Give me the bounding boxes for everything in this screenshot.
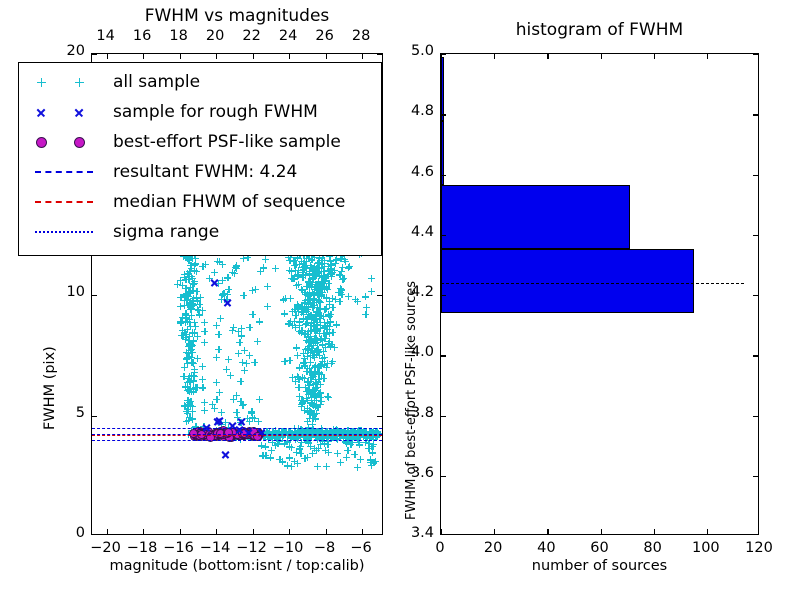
scatter-point-all-sample: [303, 303, 310, 310]
scatter-point-all-sample: [298, 309, 305, 316]
scatter-point-all-sample: [188, 273, 195, 280]
scatter-point-all-sample: [310, 314, 317, 321]
scatter-point-all-sample: [206, 275, 213, 282]
scatter-point-all-sample: [303, 308, 310, 315]
scatter-point-all-sample: [185, 276, 192, 283]
scatter-point-all-sample: [352, 296, 359, 303]
scatter-point-all-sample: [320, 313, 327, 320]
scatter-point-all-sample: [362, 293, 369, 300]
scatter-point-all-sample: [186, 319, 193, 326]
scatter-point-all-sample: [181, 402, 188, 409]
scatter-point-rough-fwhm: [210, 278, 219, 287]
scatter-point-all-sample: [309, 426, 316, 433]
bottom-tick-mark: [253, 529, 254, 534]
scatter-point-all-sample: [282, 295, 289, 302]
scatter-point-all-sample: [185, 387, 192, 394]
scatter-point-all-sample: [365, 440, 372, 447]
histogram-x-tick-label: 120: [741, 540, 777, 556]
scatter-point-all-sample: [211, 405, 218, 412]
figure-canvas: FWHM vs magnitudes 1416182022242628 −20−…: [0, 0, 800, 600]
scatter-point-all-sample: [314, 384, 321, 391]
top-tick-mark: [180, 54, 181, 59]
scatter-point-all-sample: [255, 418, 262, 425]
scatter-point-all-sample: [216, 389, 223, 396]
histogram-x-tick-mark: [601, 54, 602, 59]
scatter-point-all-sample: [313, 265, 320, 272]
scatter-point-all-sample: [201, 319, 208, 326]
scatter-point-all-sample: [309, 352, 316, 359]
scatter-point-all-sample: [368, 288, 375, 295]
top-tick-mark: [326, 54, 327, 59]
legend-entry[interactable]: best-effort PSF-like sample: [25, 127, 381, 157]
scatter-point-all-sample: [209, 401, 216, 408]
scatter-point-all-sample: [182, 334, 189, 341]
scatter-point-all-sample: [301, 407, 308, 414]
scatter-point-all-sample: [310, 295, 317, 302]
scatter-point-all-sample: [305, 386, 312, 393]
reference-line-sigma-range-lower: [92, 440, 382, 441]
scatter-point-all-sample: [300, 260, 307, 267]
scatter-point-all-sample: [309, 410, 316, 417]
scatter-point-all-sample: [333, 321, 340, 328]
scatter-point-all-sample: [187, 379, 194, 386]
histogram-y-tick-mark: [441, 235, 446, 236]
dashed-blue-line-icon: [35, 171, 93, 173]
scatter-point-all-sample: [311, 394, 318, 401]
bottom-tick-mark: [289, 529, 290, 534]
scatter-point-all-sample: [268, 447, 275, 454]
scatter-point-all-sample: [308, 369, 315, 376]
scatter-point-all-sample: [189, 408, 196, 415]
scatter-point-all-sample: [201, 328, 208, 335]
scatter-point-all-sample: [308, 337, 315, 344]
scatter-point-all-sample: [217, 315, 224, 322]
scatter-point-all-sample: [312, 384, 319, 391]
scatter-point-all-sample: [307, 296, 314, 303]
scatter-point-all-sample: [202, 261, 209, 268]
scatter-point-all-sample: [306, 280, 313, 287]
scatter-point-all-sample: [311, 445, 318, 452]
scatter-point-all-sample: [317, 441, 324, 448]
scatter-point-all-sample: [264, 283, 271, 290]
scatter-point-all-sample: [307, 359, 314, 366]
scatter-point-all-sample: [329, 295, 336, 302]
scatter-point-all-sample: [313, 267, 320, 274]
dashdot-blue-line-icon: [35, 231, 93, 233]
scatter-point-all-sample: [296, 318, 303, 325]
scatter-point-all-sample: [308, 340, 315, 347]
scatter-point-all-sample: [180, 373, 187, 380]
scatter-point-all-sample: [317, 389, 324, 396]
scatter-point-all-sample: [252, 286, 259, 293]
scatter-point-all-sample: [186, 316, 193, 323]
scatter-point-all-sample: [312, 311, 319, 318]
scatter-point-all-sample: [179, 282, 186, 289]
scatter-point-all-sample: [234, 414, 241, 421]
scatter-point-all-sample: [307, 339, 314, 346]
scatter-point-all-sample: [187, 284, 194, 291]
scatter-point-all-sample: [184, 354, 191, 361]
scatter-point-all-sample: [312, 380, 319, 387]
scatter-point-all-sample: [187, 262, 194, 269]
legend-entry[interactable]: all sample: [25, 67, 381, 97]
scatter-point-all-sample: [299, 308, 306, 315]
scatter-point-all-sample: [274, 440, 281, 447]
scatter-point-all-sample: [181, 271, 188, 278]
scatter-point-all-sample: [188, 302, 195, 309]
scatter-point-all-sample: [186, 333, 193, 340]
scatter-point-all-sample: [319, 289, 326, 296]
scatter-point-all-sample: [214, 258, 221, 265]
scatter-point-all-sample: [193, 288, 200, 295]
scatter-point-all-sample: [189, 275, 196, 282]
legend-entry[interactable]: sigma range: [25, 217, 381, 247]
scatter-point-all-sample: [185, 293, 192, 300]
scatter-point-all-sample: [332, 260, 339, 267]
scatter-point-all-sample: [310, 266, 317, 273]
scatter-point-all-sample: [187, 268, 194, 275]
scatter-point-all-sample: [304, 306, 311, 313]
scatter-point-all-sample: [324, 319, 331, 326]
scatter-point-all-sample: [307, 409, 314, 416]
scatter-point-all-sample: [314, 348, 321, 355]
scatter-point-all-sample: [272, 265, 279, 272]
scatter-point-all-sample: [201, 407, 208, 414]
scatter-point-all-sample: [302, 272, 309, 279]
scatter-point-all-sample: [314, 404, 321, 411]
scatter-point-all-sample: [299, 274, 306, 281]
scatter-point-all-sample: [192, 323, 199, 330]
scatter-point-all-sample: [308, 337, 315, 344]
scatter-point-all-sample: [311, 316, 318, 323]
scatter-point-all-sample: [309, 421, 316, 428]
scatter-point-all-sample: [319, 437, 326, 444]
bottom-tick-label: −12: [235, 540, 269, 556]
scatter-point-all-sample: [308, 394, 315, 401]
scatter-point-all-sample: [317, 325, 324, 332]
scatter-point-all-sample: [329, 304, 336, 311]
scatter-point-all-sample: [313, 308, 320, 315]
scatter-point-all-sample: [327, 265, 334, 272]
scatter-point-all-sample: [305, 296, 312, 303]
scatter-point-all-sample: [357, 456, 364, 463]
scatter-point-all-sample: [301, 362, 308, 369]
scatter-point-all-sample: [291, 275, 298, 282]
scatter-point-all-sample: [311, 397, 318, 404]
scatter-point-all-sample: [298, 304, 305, 311]
legend-key: [25, 157, 113, 187]
scatter-point-all-sample: [327, 318, 334, 325]
scatter-point-all-sample: [321, 260, 328, 267]
scatter-y-tick-mark: [92, 295, 97, 296]
scatter-point-all-sample: [317, 285, 324, 292]
scatter-point-all-sample: [347, 441, 354, 448]
bottom-tick-label: −20: [89, 540, 123, 556]
scatter-point-all-sample: [295, 376, 302, 383]
histogram-x-tick-mark: [494, 54, 495, 59]
scatter-point-all-sample: [306, 382, 313, 389]
scatter-point-all-sample: [294, 352, 301, 359]
scatter-point-all-sample: [309, 279, 316, 286]
histogram-y-tick-label: 5.0: [396, 43, 434, 59]
scatter-point-all-sample: [177, 294, 184, 301]
scatter-point-all-sample: [186, 340, 193, 347]
scatter-point-all-sample: [345, 293, 352, 300]
scatter-point-all-sample: [296, 393, 303, 400]
scatter-point-all-sample: [190, 378, 197, 385]
scatter-point-all-sample: [325, 267, 332, 274]
scatter-point-all-sample: [298, 258, 305, 265]
scatter-point-all-sample: [183, 312, 190, 319]
scatter-point-all-sample: [324, 393, 331, 400]
scatter-point-all-sample: [301, 299, 308, 306]
scatter-point-all-sample: [310, 410, 317, 417]
scatter-point-all-sample: [336, 298, 343, 305]
scatter-point-all-sample: [299, 399, 306, 406]
scatter-point-all-sample: [310, 274, 317, 281]
scatter-point-all-sample: [313, 281, 320, 288]
scatter-point-all-sample: [318, 257, 325, 264]
scatter-point-all-sample: [295, 281, 302, 288]
scatter-point-all-sample: [320, 375, 327, 382]
top-tick-mark: [289, 54, 290, 59]
scatter-point-all-sample: [231, 270, 238, 277]
scatter-point-all-sample: [188, 265, 195, 272]
scatter-point-all-sample: [184, 326, 191, 333]
scatter-point-all-sample: [315, 269, 322, 276]
scatter-point-all-sample: [312, 283, 319, 290]
scatter-point-all-sample: [313, 266, 320, 273]
scatter-y-tick-mark: [377, 54, 382, 55]
scatter-point-all-sample: [306, 407, 313, 414]
scatter-point-all-sample: [294, 460, 301, 467]
scatter-point-all-sample: [307, 443, 314, 450]
scatter-point-all-sample: [189, 287, 196, 294]
scatter-point-all-sample: [307, 262, 314, 269]
scatter-point-all-sample: [249, 414, 256, 421]
scatter-point-all-sample: [289, 308, 296, 315]
scatter-y-tick-mark: [377, 416, 382, 417]
scatter-point-all-sample: [219, 291, 226, 298]
scatter-point-all-sample: [311, 327, 318, 334]
scatter-point-all-sample: [313, 348, 320, 355]
scatter-point-all-sample: [370, 459, 377, 466]
scatter-point-all-sample: [251, 359, 258, 366]
scatter-point-all-sample: [213, 396, 220, 403]
scatter-point-all-sample: [306, 296, 313, 303]
scatter-point-all-sample: [307, 327, 314, 334]
scatter-point-all-sample: [313, 299, 320, 306]
scatter-point-all-sample: [314, 326, 321, 333]
scatter-point-all-sample: [262, 452, 269, 459]
scatter-point-all-sample: [186, 337, 193, 344]
scatter-point-all-sample: [321, 324, 328, 331]
scatter-point-all-sample: [185, 256, 192, 263]
bottom-tick-mark: [326, 529, 327, 534]
scatter-point-all-sample: [301, 330, 308, 337]
scatter-point-all-sample: [302, 306, 309, 313]
scatter-point-all-sample: [316, 298, 323, 305]
histogram-y-tick-mark: [441, 175, 446, 176]
scatter-point-all-sample: [185, 375, 192, 382]
scatter-point-all-sample: [302, 359, 309, 366]
histogram-y-tick-mark: [753, 295, 758, 296]
scatter-point-all-sample: [314, 285, 321, 292]
scatter-point-all-sample: [258, 442, 265, 449]
scatter-point-all-sample: [303, 395, 310, 402]
scatter-point-all-sample: [194, 297, 201, 304]
scatter-point-all-sample: [189, 297, 196, 304]
scatter-point-all-sample: [318, 335, 325, 342]
scatter-point-all-sample: [189, 415, 196, 422]
scatter-point-all-sample: [294, 301, 301, 308]
scatter-ylabel: FWHM (pix): [42, 346, 58, 430]
scatter-point-all-sample: [235, 328, 242, 335]
scatter-point-all-sample: [306, 415, 313, 422]
scatter-point-all-sample: [298, 403, 305, 410]
scatter-point-all-sample: [317, 319, 324, 326]
scatter-point-all-sample: [305, 378, 312, 385]
scatter-point-all-sample: [224, 274, 231, 281]
scatter-point-all-sample: [190, 377, 197, 384]
scatter-point-all-sample: [341, 256, 348, 263]
scatter-y-tick-label: 20: [53, 43, 85, 59]
scatter-point-all-sample: [309, 267, 316, 274]
scatter-point-all-sample: [316, 370, 323, 377]
scatter-point-all-sample: [322, 447, 329, 454]
scatter-point-all-sample: [324, 360, 331, 367]
scatter-point-all-sample: [197, 294, 204, 301]
scatter-point-all-sample: [310, 371, 317, 378]
scatter-point-all-sample: [246, 418, 253, 425]
scatter-point-all-sample: [184, 397, 191, 404]
scatter-point-all-sample: [311, 296, 318, 303]
scatter-point-all-sample: [300, 359, 307, 366]
scatter-point-all-sample: [326, 338, 333, 345]
scatter-point-all-sample: [312, 328, 319, 335]
scatter-point-all-sample: [311, 296, 318, 303]
scatter-point-all-sample: [188, 354, 195, 361]
scatter-point-all-sample: [306, 270, 313, 277]
scatter-point-all-sample: [314, 463, 321, 470]
scatter-point-all-sample: [307, 322, 314, 329]
scatter-point-all-sample: [311, 411, 318, 418]
scatter-point-all-sample: [315, 278, 322, 285]
scatter-point-all-sample: [321, 306, 328, 313]
scatter-point-all-sample: [354, 464, 361, 471]
histogram-x-tick-mark: [707, 54, 708, 59]
scatter-point-all-sample: [322, 274, 329, 281]
scatter-point-all-sample: [351, 451, 358, 458]
scatter-point-all-sample: [284, 462, 291, 469]
scatter-point-all-sample: [313, 319, 320, 326]
scatter-point-all-sample: [316, 282, 323, 289]
scatter-point-all-sample: [183, 349, 190, 356]
scatter-point-all-sample: [362, 311, 369, 318]
scatter-point-all-sample: [301, 355, 308, 362]
top-tick-label: 24: [274, 28, 302, 44]
scatter-point-all-sample: [306, 365, 313, 372]
scatter-point-all-sample: [191, 329, 198, 336]
scatter-point-all-sample: [287, 295, 294, 302]
scatter-point-all-sample: [184, 401, 191, 408]
scatter-point-all-sample: [307, 349, 314, 356]
scatter-point-all-sample: [306, 290, 313, 297]
scatter-point-all-sample: [308, 313, 315, 320]
scatter-point-all-sample: [307, 411, 314, 418]
scatter-point-all-sample: [309, 450, 316, 457]
scatter-point-all-sample: [237, 378, 244, 385]
scatter-point-all-sample: [302, 297, 309, 304]
histogram-x-tick-mark: [494, 529, 495, 534]
scatter-point-all-sample: [241, 367, 248, 374]
scatter-y-tick-mark: [92, 416, 97, 417]
scatter-point-all-sample: [249, 311, 256, 318]
scatter-point-all-sample: [305, 379, 312, 386]
scatter-point-all-sample: [296, 261, 303, 268]
legend-entry[interactable]: sample for rough FWHM: [25, 97, 381, 127]
scatter-point-all-sample: [188, 359, 195, 366]
scatter-point-all-sample: [319, 279, 326, 286]
scatter-point-all-sample: [309, 299, 316, 306]
scatter-point-all-sample: [185, 257, 192, 264]
scatter-point-all-sample: [313, 351, 320, 358]
scatter-point-all-sample: [189, 416, 196, 423]
scatter-point-all-sample: [177, 303, 184, 310]
histogram-plot-area[interactable]: [440, 53, 759, 535]
scatter-point-all-sample: [325, 311, 332, 318]
scatter-point-all-sample: [372, 458, 379, 465]
scatter-point-all-sample: [185, 343, 192, 350]
top-tick-label: 20: [201, 28, 229, 44]
scatter-point-all-sample: [312, 364, 319, 371]
scatter-point-all-sample: [328, 341, 335, 348]
scatter-point-all-sample: [259, 452, 266, 459]
scatter-point-all-sample: [328, 271, 335, 278]
scatter-point-all-sample: [185, 337, 192, 344]
scatter-point-all-sample: [281, 310, 288, 317]
scatter-point-all-sample: [299, 287, 306, 294]
scatter-point-all-sample: [224, 291, 231, 298]
scatter-point-all-sample: [186, 414, 193, 421]
scatter-point-all-sample: [309, 276, 316, 283]
scatter-y-tick-mark: [92, 54, 97, 55]
scatter-point-all-sample: [305, 311, 312, 318]
scatter-point-all-sample: [187, 347, 194, 354]
scatter-point-rough-fwhm: [223, 298, 232, 307]
legend-entry[interactable]: median FHWM of sequence: [25, 187, 381, 217]
scatter-point-all-sample: [239, 402, 246, 409]
scatter-point-all-sample: [181, 293, 188, 300]
scatter-point-all-sample: [327, 343, 334, 350]
legend-key: [25, 97, 113, 127]
scatter-point-all-sample: [189, 416, 196, 423]
scatter-point-all-sample: [188, 373, 195, 380]
scatter-point-all-sample: [186, 289, 193, 296]
scatter-point-all-sample: [187, 303, 194, 310]
scatter-point-all-sample: [328, 360, 335, 367]
scatter-point-all-sample: [302, 346, 309, 353]
legend-entry[interactable]: resultant FWHM: 4.24: [25, 157, 381, 187]
scatter-point-all-sample: [183, 297, 190, 304]
scatter-point-all-sample: [304, 353, 311, 360]
scatter-point-all-sample: [312, 271, 319, 278]
scatter-point-all-sample: [318, 273, 325, 280]
scatter-point-all-sample: [320, 283, 327, 290]
top-tick-mark: [362, 54, 363, 59]
scatter-point-all-sample: [181, 364, 188, 371]
scatter-point-all-sample: [311, 315, 318, 322]
